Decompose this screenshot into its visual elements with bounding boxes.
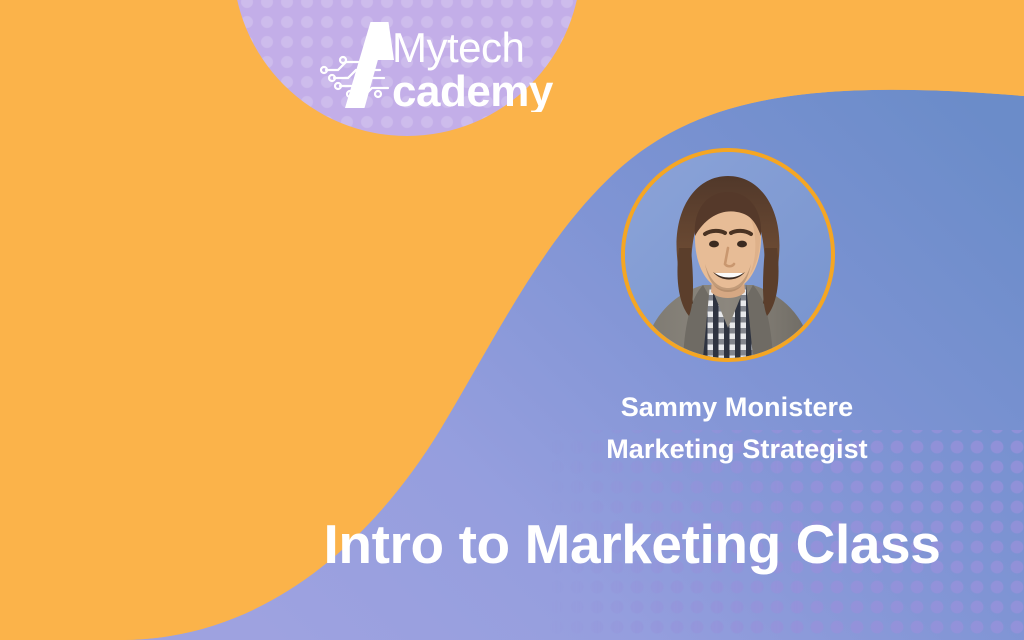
logo-text-cademy: cademy [392,67,554,112]
speaker-role: Marketing Strategist [512,428,962,470]
mytech-academy-logo[interactable]: Mytech cademy [318,16,564,112]
logo-text-mytech: Mytech [392,24,524,71]
speaker-name: Sammy Monistere [512,386,962,428]
class-promo-banner: Mytech cademy [0,0,1024,640]
avatar [621,148,835,362]
page-title: Intro to Marketing Class [304,508,960,580]
speaker-info: Sammy Monistere Marketing Strategist [512,386,962,470]
portrait-photo [625,152,831,358]
